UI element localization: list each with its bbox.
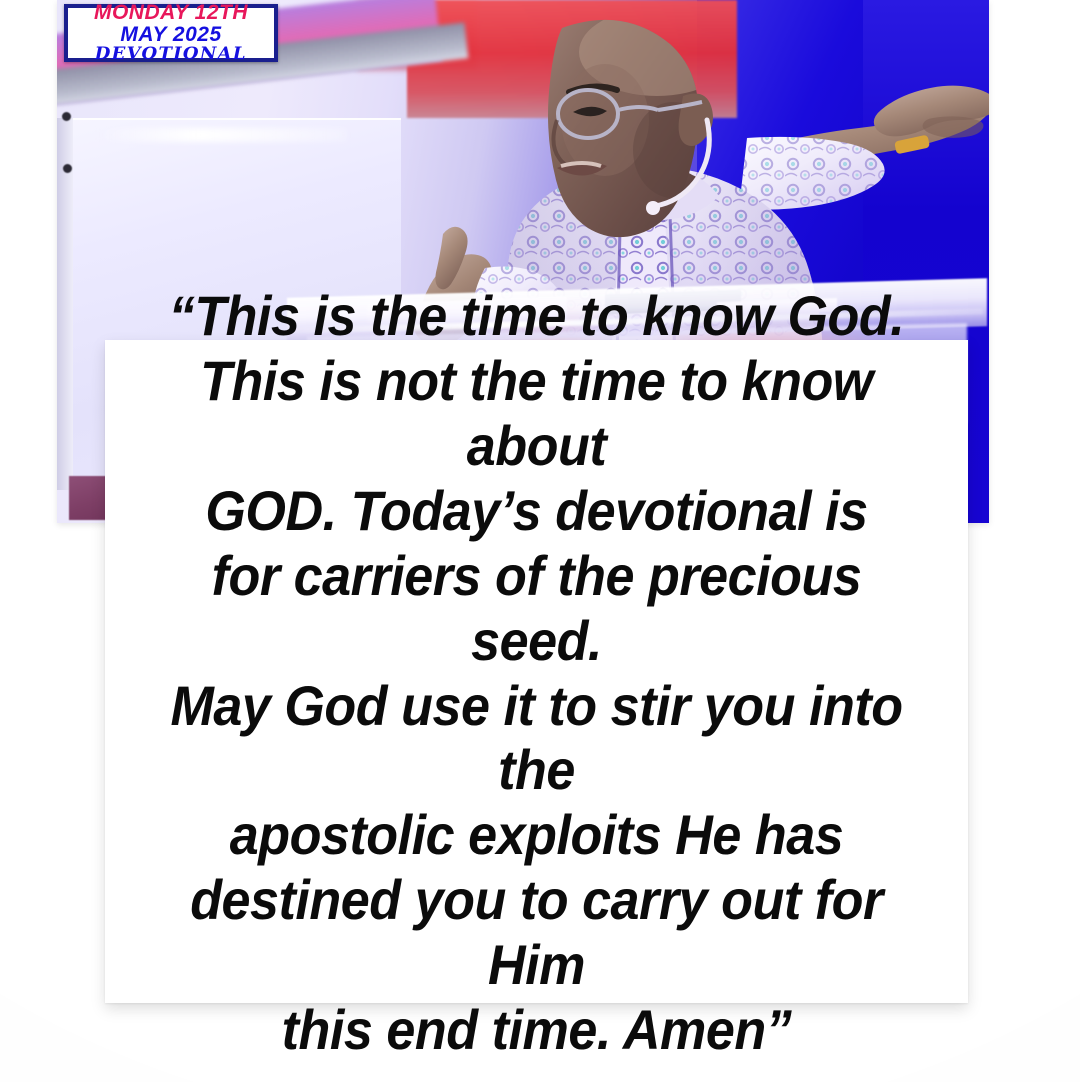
badge-month-year-line: MAY 2025 xyxy=(120,24,221,45)
badge-day-line: MONDAY 12TH xyxy=(94,2,248,23)
quote-card: “This is the time to know God. This is n… xyxy=(105,340,968,1003)
poster-canvas: MONDAY 12TH MAY 2025 DEVOTIONAL “This is… xyxy=(0,0,1080,1082)
date-badge: MONDAY 12TH MAY 2025 DEVOTIONAL xyxy=(64,4,278,62)
badge-devotional-line: DEVOTIONAL xyxy=(95,46,247,63)
headset-mic-capsule xyxy=(646,201,660,215)
quote-text: “This is the time to know God. This is n… xyxy=(159,284,913,1063)
